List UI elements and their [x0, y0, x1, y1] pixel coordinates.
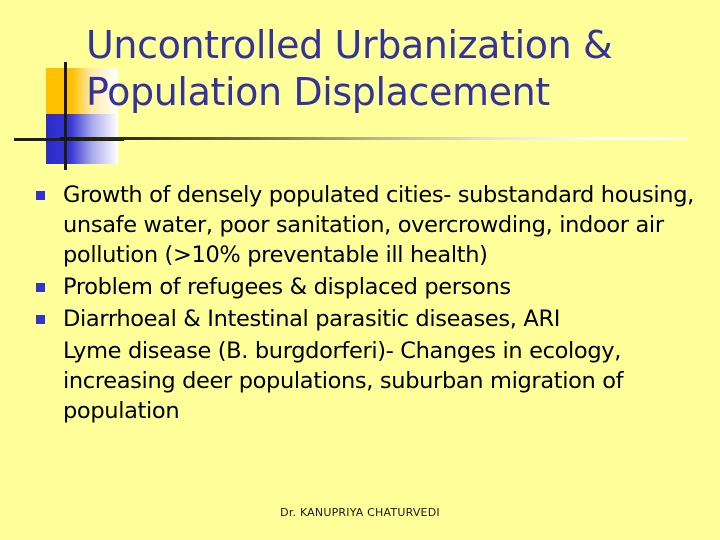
list-item-text: Problem of refugees & displaced persons: [63, 272, 700, 302]
list-item: Growth of densely populated cities- subs…: [36, 180, 700, 270]
list-item-text: Diarrhoeal & Intestinal parasitic diseas…: [63, 304, 700, 334]
slide-canvas: Uncontrolled Urbanization & Population D…: [0, 0, 720, 540]
bullet-square-icon: [36, 315, 45, 324]
bullet-square-icon: [36, 191, 45, 200]
slide-title: Uncontrolled Urbanization & Population D…: [86, 22, 696, 116]
bullet-square-icon: [36, 283, 45, 292]
vertical-crosshair-line: [64, 62, 67, 170]
list-item: Diarrhoeal & Intestinal parasitic diseas…: [36, 304, 700, 334]
list-item-text: Lyme disease (B. burgdorferi)- Changes i…: [63, 336, 700, 426]
slide-body: Growth of densely populated cities- subs…: [36, 180, 700, 428]
list-item: Lyme disease (B. burgdorferi)- Changes i…: [36, 336, 700, 426]
bullet-square-placeholder: [36, 347, 45, 356]
title-divider-rule: [60, 137, 688, 140]
list-item: Problem of refugees & displaced persons: [36, 272, 700, 302]
slide-footer-author: Dr. KANUPRIYA CHATURVEDI: [0, 506, 720, 519]
list-item-text: Growth of densely populated cities- subs…: [63, 180, 700, 270]
red-square-icon: [16, 100, 88, 138]
